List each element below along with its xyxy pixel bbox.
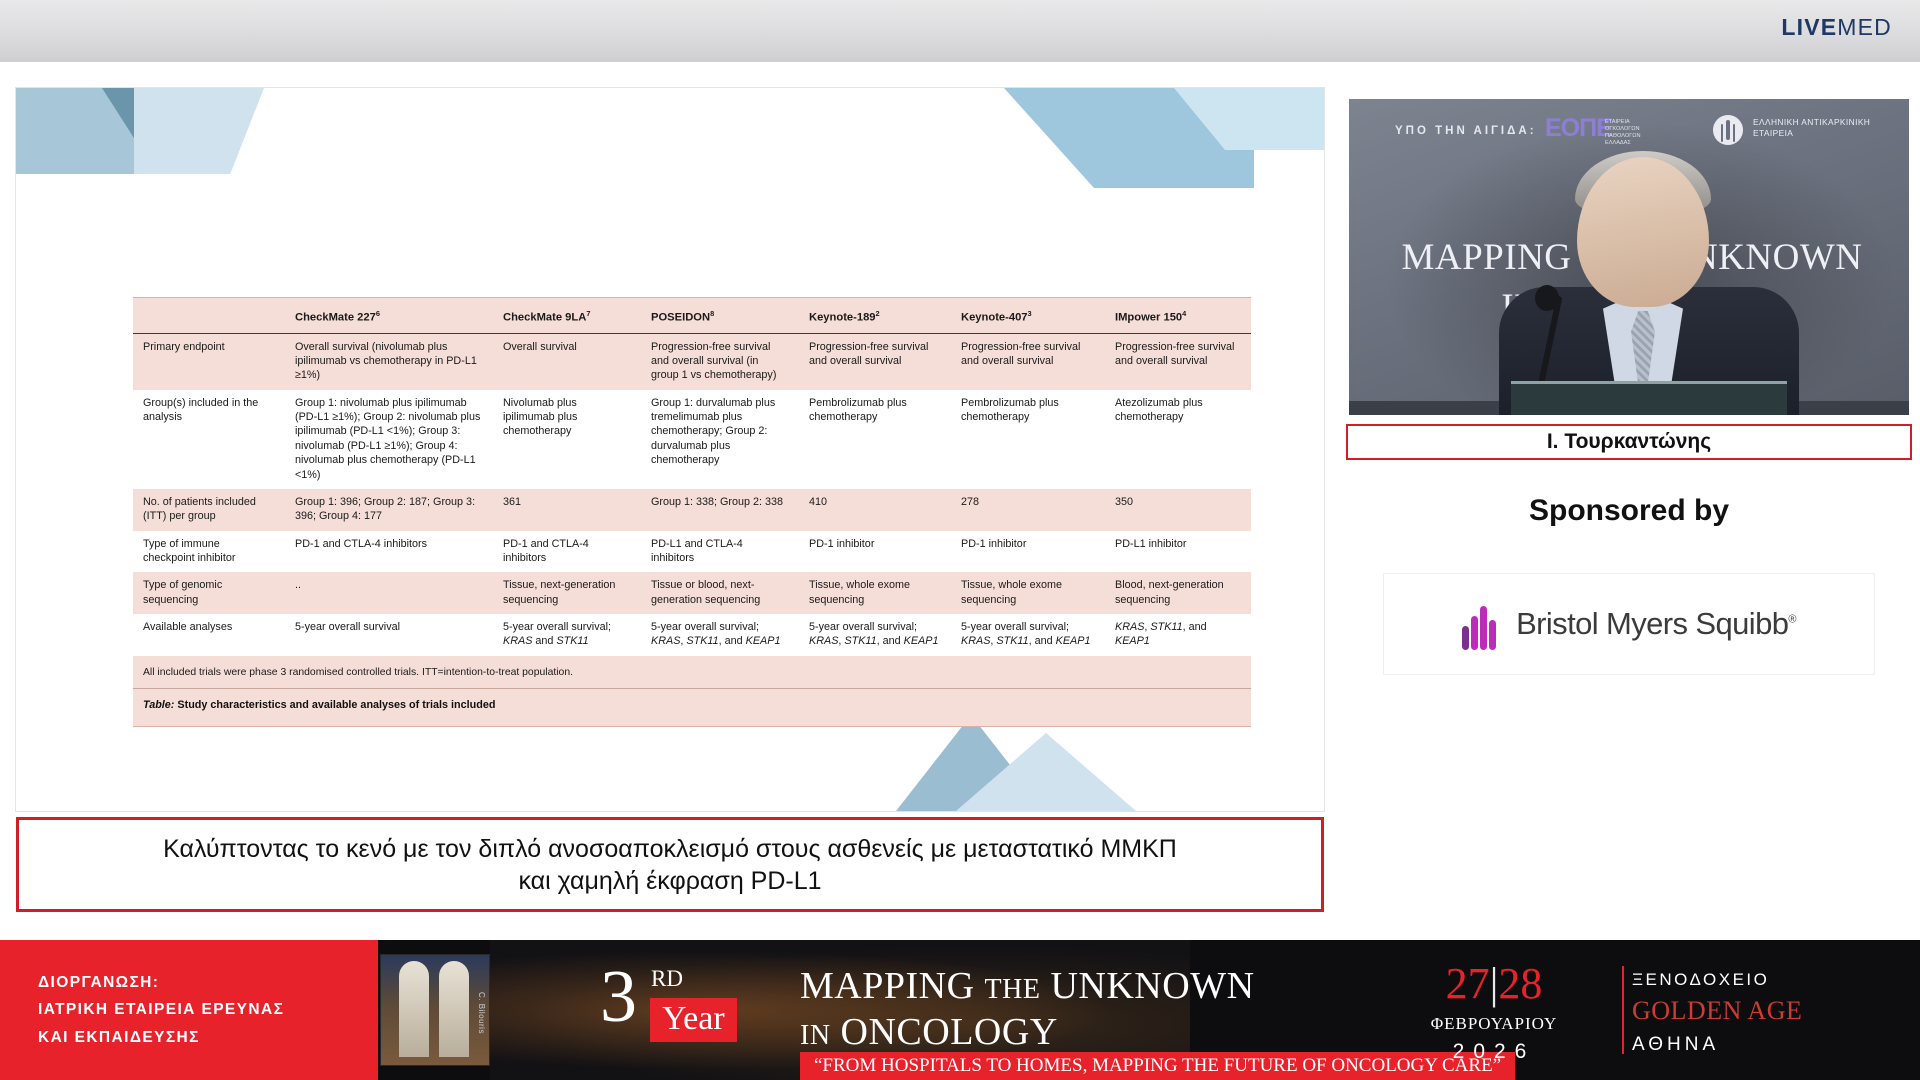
event-title-line1: MAPPING THE UNKNOWN: [800, 964, 1255, 1008]
cell: PD-1 inhibitor: [799, 531, 951, 573]
session-title-line2: και χαμηλή έκφραση PD-L1: [518, 867, 821, 895]
table-row: Available analyses 5-year overall surviv…: [133, 614, 1251, 656]
venue-name: GOLDEN AGE: [1632, 996, 1832, 1026]
cell: 278: [951, 489, 1105, 531]
study-characteristics-table: CheckMate 2276 CheckMate 9LA7 POSEIDON8 …: [133, 298, 1251, 656]
organizer-label: ΔΙΟΡΓΑΝΩΣΗ:: [38, 969, 378, 996]
event-venue: ΞΕΝΟΔΟΧΕΙΟ GOLDEN AGE ΑΘΗΝΑ: [1632, 970, 1832, 1056]
cell: KRAS, STK11, and KEAP1: [1105, 614, 1251, 656]
session-title-line1: Καλύπτοντας το κενό με τον διπλό ανοσοαπ…: [163, 835, 1177, 863]
cell: 361: [493, 489, 641, 531]
cell: Tissue, next-generation sequencing: [493, 572, 641, 614]
banner-divider: [1622, 966, 1624, 1054]
table-footnote: All included trials were phase 3 randomi…: [133, 656, 1251, 689]
speaker-video[interactable]: MAPPING THE UNKNOWN IN ONCOLOGY ΥΠΟ ΤΗΝ …: [1346, 96, 1912, 418]
banner-artwork: [380, 954, 490, 1066]
cell: Progression-free survival and overall su…: [951, 333, 1105, 390]
row-label: Available analyses: [133, 614, 285, 656]
aegis-label: ΥΠΟ ΤΗΝ ΑΙΓΙΔΑ:: [1395, 125, 1537, 137]
livemed-logo-med: MED: [1837, 14, 1892, 40]
cell: ..: [285, 572, 493, 614]
sponsored-by-heading: Sponsored by: [1346, 494, 1912, 528]
cell: Atezolizumab plus chemotherapy: [1105, 390, 1251, 489]
cell: Overall survival (nivolumab plus ipilimu…: [285, 333, 493, 390]
venue-label: ΞΕΝΟΔΟΧΕΙΟ: [1632, 970, 1832, 990]
cell: Tissue or blood, next-generation sequenc…: [641, 572, 799, 614]
table-row: Group(s) included in the analysis Group …: [133, 390, 1251, 489]
cell: 5-year overall survival; KRAS, STK11, an…: [641, 614, 799, 656]
cell: PD-L1 inhibitor: [1105, 531, 1251, 573]
cell: Tissue, whole exome sequencing: [951, 572, 1105, 614]
livemed-logo-live: LIVE: [1781, 14, 1837, 40]
table-caption-text: Study characteristics and available anal…: [174, 699, 495, 711]
cell: 350: [1105, 489, 1251, 531]
row-label: No. of patients included (ITT) per group: [133, 489, 285, 531]
event-date-month: ΦΕΒΡΟΥΑΡΙΟΥ: [1384, 1014, 1604, 1034]
cell: 5-year overall survival: [285, 614, 493, 656]
edition-year-word: Year: [650, 998, 737, 1042]
session-title-inner: Καλύπτοντας το κενό με τον διπλό ανοσοαπ…: [19, 820, 1321, 909]
top-bar: LIVEMED: [0, 0, 1920, 62]
table-header-keynote407: Keynote-4073: [951, 298, 1105, 333]
cell: Group 1: nivolumab plus ipilimumab (PD-L…: [285, 390, 493, 489]
cell: PD-1 and CTLA-4 inhibitors: [493, 531, 641, 573]
cell: Group 1: 396; Group 2: 187; Group 3: 396…: [285, 489, 493, 531]
cell: Group 1: durvalumab plus tremelimumab pl…: [641, 390, 799, 489]
organizer-name-line2: ΚΑΙ ΕΚΠΑΙΔΕΥΣΗΣ: [38, 1024, 378, 1051]
cell: Group 1: 338; Group 2: 338: [641, 489, 799, 531]
cell: Progression-free survival and overall su…: [641, 333, 799, 390]
organizer-block: ΔΙΟΡΓΑΝΩΣΗ: ΙΑΤΡΙΚΗ ΕΤΑΙΡΕΙΑ ΕΡΕΥΝΑΣ ΚΑΙ…: [0, 940, 378, 1080]
study-table-container: CheckMate 2276 CheckMate 9LA7 POSEIDON8 …: [133, 297, 1251, 727]
sponsor-logo: Bristol Myers Squibb®: [1384, 574, 1874, 674]
ref-marker: 7: [586, 309, 590, 318]
table-header-checkmate227: CheckMate 2276: [285, 298, 493, 333]
table-row: Type of immune checkpoint inhibitor PD-1…: [133, 531, 1251, 573]
decor-shape-top-left-b: [134, 88, 264, 174]
table-caption-label: Table:: [143, 699, 174, 711]
event-date-year: 2026: [1384, 1040, 1604, 1064]
ref-marker: 8: [710, 309, 714, 318]
ref-marker: 6: [376, 309, 380, 318]
event-date-days: 27|28: [1384, 962, 1604, 1006]
edition-number: 3: [600, 964, 637, 1031]
hellenic-cancer-society-icon: [1713, 115, 1743, 145]
table-row: Primary endpoint Overall survival (nivol…: [133, 333, 1251, 390]
cell: Blood, next-generation sequencing: [1105, 572, 1251, 614]
cell: Tissue, whole exome sequencing: [799, 572, 951, 614]
cell: 5-year overall survival; KRAS, STK11, an…: [951, 614, 1105, 656]
cell: Nivolumab plus ipilimumab plus chemother…: [493, 390, 641, 489]
ref-marker: 4: [1182, 309, 1186, 318]
row-label: Primary endpoint: [133, 333, 285, 390]
cell: PD-L1 and CTLA-4 inhibitors: [641, 531, 799, 573]
cell: PD-1 and CTLA-4 inhibitors: [285, 531, 493, 573]
table-header-blank: [133, 298, 285, 333]
cell: 5-year overall survival; KRAS and STK11: [493, 614, 641, 656]
cell: PD-1 inhibitor: [951, 531, 1105, 573]
row-label: Group(s) included in the analysis: [133, 390, 285, 489]
table-header-poseidon: POSEIDON8: [641, 298, 799, 333]
event-title-line2: IN ONCOLOGY: [800, 1010, 1058, 1054]
table-header-checkmate9la: CheckMate 9LA7: [493, 298, 641, 333]
row-label: Type of immune checkpoint inhibitor: [133, 531, 285, 573]
speaker-name-bar: Ι. Τουρκαντώνης: [1346, 424, 1912, 460]
livemed-logo: LIVEMED: [1781, 14, 1892, 41]
table-caption: Table: Study characteristics and availab…: [133, 689, 1251, 722]
cell: 410: [799, 489, 951, 531]
organizer-name-line1: ΙΑΤΡΙΚΗ ΕΤΑΙΡΕΙΑ ΕΡΕΥΝΑΣ: [38, 996, 378, 1023]
event-banner: ΔΙΟΡΓΑΝΩΣΗ: ΙΑΤΡΙΚΗ ΕΤΑΙΡΕΙΑ ΕΡΕΥΝΑΣ ΚΑΙ…: [0, 940, 1920, 1080]
eope-logo: ΕΟΠΕ: [1545, 114, 1612, 143]
microphone-icon: [1535, 285, 1559, 311]
session-title-bar: Καλύπτοντας το κενό με τον διπλό ανοσοαπ…: [16, 817, 1324, 912]
table-row: No. of patients included (ITT) per group…: [133, 489, 1251, 531]
cell: Progression-free survival and overall su…: [799, 333, 951, 390]
slide-panel: CheckMate 2276 CheckMate 9LA7 POSEIDON8 …: [16, 88, 1324, 811]
table-header-row: CheckMate 2276 CheckMate 9LA7 POSEIDON8 …: [133, 298, 1251, 333]
table-header-impower150: IMpower 1504: [1105, 298, 1251, 333]
cell: Pembrolizumab plus chemotherapy: [951, 390, 1105, 489]
table-row: Type of genomic sequencing .. Tissue, ne…: [133, 572, 1251, 614]
row-label: Type of genomic sequencing: [133, 572, 285, 614]
ref-marker: 3: [1028, 309, 1032, 318]
speaker-name: Ι. Τουρκαντώνης: [1348, 426, 1910, 458]
artwork-credit: C. Bilouris: [477, 992, 486, 1034]
event-dates: 27|28 ΦΕΒΡΟΥΑΡΙΟΥ 2026: [1384, 962, 1604, 1064]
edition-ordinal: RD: [651, 966, 683, 992]
cell: Pembrolizumab plus chemotherapy: [799, 390, 951, 489]
table-header-keynote189: Keynote-1892: [799, 298, 951, 333]
hellenic-cancer-society-label: ΕΛΛΗΝΙΚΗ ΑΝΤΙΚΑΡΚΙΝΙΚΗ ΕΤΑΙΡΕΙΑ: [1753, 117, 1909, 138]
sponsor-logo-text: Bristol Myers Squibb®: [1516, 606, 1796, 642]
cell: Overall survival: [493, 333, 641, 390]
laptop: [1511, 381, 1787, 415]
registered-trademark-icon: ®: [1788, 614, 1796, 626]
session-title-text: Καλύπτοντας το κενό με τον διπλό ανοσοαπ…: [163, 833, 1177, 897]
ref-marker: 2: [876, 309, 880, 318]
bristol-myers-squibb-mark-icon: [1462, 598, 1500, 650]
cell: Progression-free survival and overall su…: [1105, 333, 1251, 390]
venue-city: ΑΘΗΝΑ: [1632, 1034, 1832, 1056]
sponsor-logo-name: Bristol Myers Squibb: [1516, 606, 1788, 641]
eope-logo-subtitle: ΕΤΑΙΡΕΙΑ ΟΓΚΟΛΟΓΩΝ ΠΑΘΟΛΟΓΩΝ ΕΛΛΑΔΑΣ: [1605, 119, 1649, 147]
cell: 5-year overall survival; KRAS, STK11, an…: [799, 614, 951, 656]
